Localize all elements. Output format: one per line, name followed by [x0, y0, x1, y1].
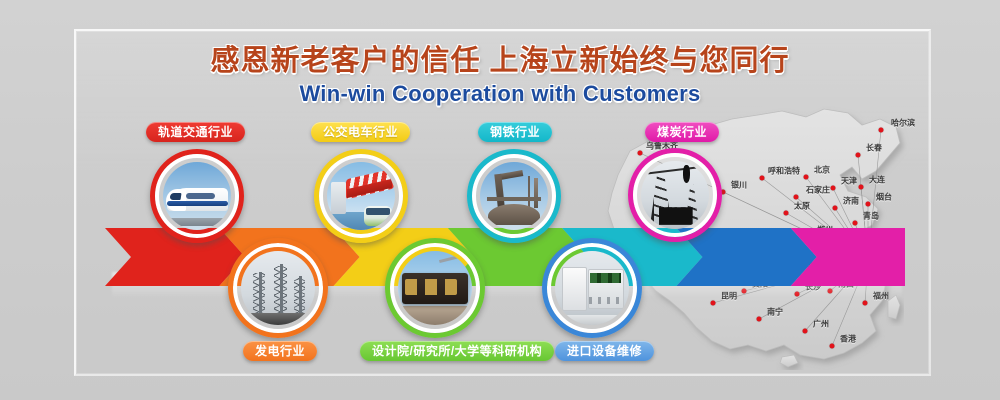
university-plaque-icon [390, 243, 480, 333]
power-grid-icon [233, 243, 323, 333]
circle-power-generation[interactable] [228, 238, 328, 338]
map-city-dot[interactable] [794, 195, 799, 200]
map-city-dot[interactable] [856, 153, 861, 158]
map-city-label: 哈尔滨 [891, 118, 915, 129]
map-city-label: 长春 [866, 143, 882, 154]
map-city-dot[interactable] [853, 221, 858, 226]
map-city-label: 香港 [840, 334, 856, 345]
badge-rail-transit[interactable]: 轨道交通行业 [146, 122, 245, 142]
map-city-label: 广州 [813, 319, 829, 330]
badge-power-generation[interactable]: 发电行业 [243, 341, 317, 361]
map-city-dot[interactable] [784, 211, 789, 216]
map-city-label: 石家庄 [806, 185, 830, 196]
map-city-label: 南宁 [767, 307, 783, 318]
map-city-dot[interactable] [828, 289, 833, 294]
badge-research-institutes[interactable]: 设计院/研究所/大学等科研机构 [360, 341, 554, 361]
map-city-dot[interactable] [711, 301, 716, 306]
map-city-dot[interactable] [638, 151, 643, 156]
map-city-label: 青岛 [863, 211, 879, 222]
map-city-dot[interactable] [831, 186, 836, 191]
map-city-label: 银川 [731, 180, 747, 191]
map-city-dot[interactable] [830, 344, 835, 349]
map-city-label: 烟台 [876, 192, 892, 203]
bus-icon [319, 154, 403, 238]
map-city-label: 呼和浩特 [768, 166, 800, 177]
train-icon [155, 154, 239, 238]
map-city-dot[interactable] [804, 175, 809, 180]
badge-imported-equipment-repair[interactable]: 进口设备维修 [555, 341, 654, 361]
map-city-dot[interactable] [866, 202, 871, 207]
map-city-label: 济南 [843, 196, 859, 207]
map-city-label: 大连 [869, 175, 885, 186]
map-city-dot[interactable] [879, 128, 884, 133]
page-subtitle-english: Win-win Cooperation with Customers [0, 81, 1000, 107]
map-city-label: 太原 [794, 201, 810, 212]
map-city-label: 昆明 [721, 291, 737, 302]
circle-coal[interactable] [628, 148, 722, 242]
map-city-dot[interactable] [803, 329, 808, 334]
page-title-chinese: 感恩新老客户的信任 上海立新始终与您同行 [0, 44, 1000, 78]
circle-research-institutes[interactable] [385, 238, 485, 338]
map-city-dot[interactable] [859, 185, 864, 190]
map-city-dot[interactable] [833, 206, 838, 211]
map-city-dot[interactable] [742, 289, 747, 294]
map-city-dot[interactable] [795, 292, 800, 297]
switchgear-cabinet-icon [547, 243, 637, 333]
circle-rail-transit[interactable] [150, 149, 244, 243]
banner-canvas: 感恩新老客户的信任 上海立新始终与您同行 Win-win Cooperation… [0, 0, 1000, 400]
badge-coal[interactable]: 煤炭行业 [645, 122, 719, 142]
circle-steel[interactable] [467, 149, 561, 243]
coal-derrick-icon [633, 153, 717, 237]
circle-bus-tram[interactable] [314, 149, 408, 243]
steel-mill-icon [472, 154, 556, 238]
map-city-label: 北京 [814, 165, 830, 176]
map-city-label: 福州 [873, 291, 889, 302]
circle-imported-equipment-repair[interactable] [542, 238, 642, 338]
badge-steel[interactable]: 钢铁行业 [478, 122, 552, 142]
map-city-dot[interactable] [760, 176, 765, 181]
map-city-dot[interactable] [757, 317, 762, 322]
title-block: 感恩新老客户的信任 上海立新始终与您同行 Win-win Cooperation… [0, 44, 1000, 107]
map-city-dot[interactable] [863, 301, 868, 306]
badge-bus-tram[interactable]: 公交电车行业 [311, 122, 410, 142]
map-city-label: 天津 [841, 176, 857, 187]
